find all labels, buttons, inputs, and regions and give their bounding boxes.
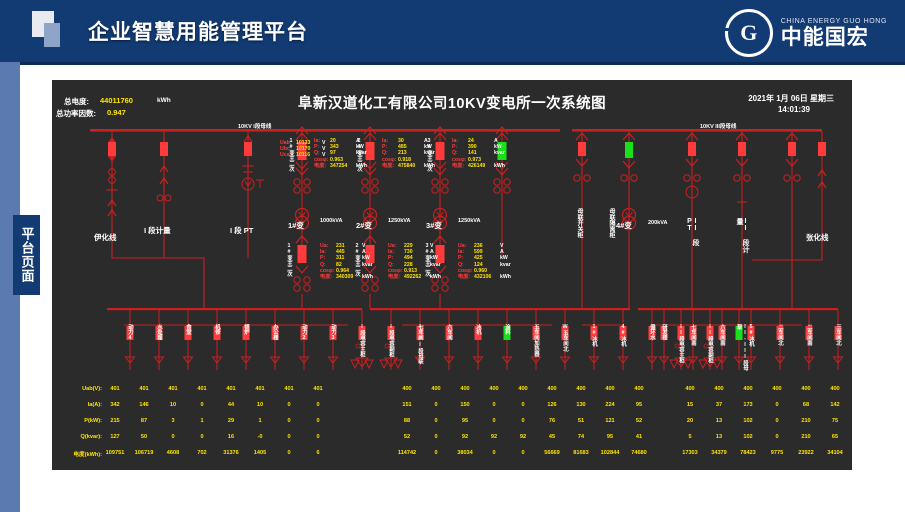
brand-name-cn: 中能国宏 <box>781 27 887 49</box>
table-cell: 29 <box>218 418 244 424</box>
table-cell: 15 <box>677 402 703 408</box>
measurement-table: Uab(V):Ia(A):P(kW):Q(kvar):电度(kWh):40134… <box>52 380 852 470</box>
table-cell: 16 <box>218 434 244 440</box>
table-cell: 52 <box>626 418 652 424</box>
brand-block: G CHINA ENERGY GUO HONG 中能国宏 <box>725 9 887 57</box>
table-cell: 0 <box>423 418 449 424</box>
label-bus-tie-breaker-cubicle: 母联开关柜 <box>576 208 582 260</box>
table-cell: 702 <box>189 450 215 456</box>
xfmr-2-kwh-unit: kWh <box>430 274 441 280</box>
table-cell: 34104 <box>822 450 848 456</box>
transformer-2-side-label: 2#变主二次 <box>354 243 360 285</box>
table-cell: 400 <box>394 386 420 392</box>
table-cell: 0 <box>481 402 507 408</box>
incomer-2-kwh-value: 475840 <box>398 163 424 169</box>
feeder-label-sec-i-5[interactable]: 办公楼 <box>272 324 278 376</box>
table-cell: 400 <box>423 386 449 392</box>
feeder-label-sec-i-9[interactable]: I段电容副柜 <box>388 324 394 376</box>
feeder-label-sec-ii-8[interactable]: 循环水 <box>649 324 655 376</box>
table-cell: 52 <box>394 434 420 440</box>
table-cell: 0 <box>276 402 302 408</box>
feeder-label-sec-i-0[interactable]: 动力4 <box>127 324 133 376</box>
table-cell: 400 <box>626 386 652 392</box>
table-cell: 75 <box>822 418 848 424</box>
xfmr-2-p-unit: kW <box>430 255 438 261</box>
incomer-2-name: 2#变主二次 <box>356 138 362 174</box>
table-cell: 106719 <box>131 450 157 456</box>
table-cell: 0 <box>160 434 186 440</box>
label-section-i-pt: I 段 PT <box>230 225 253 236</box>
table-cell: 127 <box>102 434 128 440</box>
table-cell: 5 <box>677 434 703 440</box>
incomer-3-readings: Ia:24A P:390kW Q:141kvar cosφ:0.973 电度:4… <box>452 138 505 169</box>
xfmr-3-kwh-unit: kWh <box>500 274 511 280</box>
table-cell: 342 <box>102 402 128 408</box>
table-cell: 9775 <box>764 450 790 456</box>
table-cell: 173 <box>735 402 761 408</box>
transformer-3-readings: Ua:236V Ia:599A P:425kW Q:124kvar cosφ:0… <box>458 243 511 280</box>
feeder-label-sec-i-4[interactable]: 锅炉 <box>243 324 249 376</box>
table-cell: 0 <box>481 418 507 424</box>
table-cell: 109751 <box>102 450 128 456</box>
feeder-label-sec-ii-4[interactable]: 五车间加热器 <box>533 324 539 376</box>
table-cell: 0 <box>851 434 852 440</box>
table-cell: 56669 <box>539 450 565 456</box>
table-cell: 65 <box>822 434 848 440</box>
table-cell: 150 <box>452 402 478 408</box>
table-cell: 400 <box>793 386 819 392</box>
table-cell: 0 <box>305 418 331 424</box>
xfmr-2-q-unit: kvar <box>430 262 441 268</box>
table-cell: 76 <box>539 418 565 424</box>
label-yihua-line: 伊化线 <box>94 232 117 243</box>
table-cell: 400 <box>568 386 594 392</box>
table-cell: 0 <box>276 450 302 456</box>
label-section-ii-pt: II 段 PT <box>686 218 698 252</box>
table-row-label-3: Q(kvar): <box>54 434 102 440</box>
xfmr-2-ia-unit: A <box>430 249 434 255</box>
label-zhanghua-line: 张化线 <box>806 232 829 243</box>
table-cell: 17303 <box>677 450 703 456</box>
transformer-3-side-label: 3#变主二次 <box>424 243 430 285</box>
table-cell: 0 <box>423 402 449 408</box>
feeder-label-sec-iii-0[interactable]: 研发楼 <box>661 324 667 376</box>
table-cell: 13 <box>706 418 732 424</box>
table-cell: 151 <box>394 402 420 408</box>
table-row-label-0: Uab(V): <box>54 386 102 392</box>
transformer-4-tag: 4#变 <box>616 220 632 231</box>
table-cell: 92 <box>481 434 507 440</box>
table-cell: 400 <box>764 386 790 392</box>
xfmr-1-ua-unit: V <box>362 243 365 249</box>
table-cell: 0 <box>851 418 852 424</box>
table-cell: 31376 <box>218 450 244 456</box>
incomer-3-name: 3#变主二次 <box>426 138 432 174</box>
table-cell: 45 <box>539 434 565 440</box>
table-cell: 41 <box>626 434 652 440</box>
table-cell: 0 <box>764 434 790 440</box>
label-section-i-metering: I 段计量 <box>144 225 171 236</box>
table-cell: 0 <box>305 434 331 440</box>
table-cell: 0 <box>189 402 215 408</box>
bus-label-left: 10KV I段母线 <box>238 122 271 130</box>
table-cell: 400 <box>735 386 761 392</box>
bus-label-right: 10KV III段母线 <box>700 122 736 130</box>
table-cell: 1405 <box>247 450 273 456</box>
transformer-3-tag: 3#变 <box>426 220 442 231</box>
transformer-2-rating: 1250kVA <box>388 218 411 224</box>
table-cell: 0 <box>510 418 536 424</box>
table-cell: 0 <box>189 434 215 440</box>
table-cell: 81683 <box>568 450 594 456</box>
table-cell: 0 <box>510 450 536 456</box>
table-cell: 38034 <box>452 450 478 456</box>
feeder-label-sec-iii-1[interactable]: 七车间南 <box>690 324 696 376</box>
xfmr-3-p-unit: kW <box>500 255 508 261</box>
table-cell: 4608 <box>160 450 186 456</box>
table-cell: 400 <box>510 386 536 392</box>
xfmr-1-kwh-unit: kWh <box>362 274 373 280</box>
table-cell: 10 <box>160 402 186 408</box>
table-cell: 3 <box>160 418 186 424</box>
feeder-label-sec-ii-7[interactable]: 4#冰机 <box>620 324 626 376</box>
feeder-label-sec-ii-10[interactable]: II段电容副柜 <box>707 324 713 376</box>
transformer-3-rating: 1250kVA <box>458 218 481 224</box>
xfmr-3-q-unit: kvar <box>500 262 511 268</box>
table-cell: 400 <box>452 386 478 392</box>
single-line-diagram-panel: 总电度: 44011760 kWh 总功率因数: 0.947 阜新汉道化工有限公… <box>52 80 852 470</box>
incomer-1-kwh-value: 347254 <box>330 163 356 169</box>
table-cell: 78423 <box>735 450 761 456</box>
table-cell: 400 <box>597 386 623 392</box>
incomer-3-kwh-value: 426149 <box>468 163 494 169</box>
table-cell: 74 <box>568 434 594 440</box>
table-cell: 401 <box>247 386 273 392</box>
table-cell: 92 <box>510 434 536 440</box>
table-cell: 400 <box>481 386 507 392</box>
transformer-1-tag: 1#变 <box>288 220 304 231</box>
label-bus-tie-isolator-cubicle: 母联隔离柜 <box>608 208 614 260</box>
table-cell: 44 <box>218 402 244 408</box>
xfmr-3-kwh-value: 432106 <box>474 274 500 280</box>
table-cell: 401 <box>276 386 302 392</box>
feeder-label-sec-ii-2[interactable]: 冰机 <box>475 324 481 376</box>
feeder-label-sec-iii-4[interactable]: 二车间北 <box>777 324 783 376</box>
table-cell: 210 <box>793 434 819 440</box>
table-cell: 0 <box>481 450 507 456</box>
table-cell: 215 <box>102 418 128 424</box>
transformer-2-tag: 2#变 <box>356 220 372 231</box>
app-header: 企业智慧用能管理平台 G CHINA ENERGY GUO HONG 中能国宏 <box>0 0 905 65</box>
table-cell: 51 <box>568 418 594 424</box>
table-cell: 0 <box>423 450 449 456</box>
table-cell: 88 <box>394 418 420 424</box>
table-cell: 401 <box>305 386 331 392</box>
table-cell: 6 <box>305 450 331 456</box>
xfmr-1-kwh-key: 电度: <box>320 274 336 280</box>
sidebar-tab-platform-pages[interactable]: 平台页面 <box>13 215 40 295</box>
table-cell: 23922 <box>793 450 819 456</box>
app-logo-icon <box>32 11 72 51</box>
xfmr-1-p-unit: kW <box>362 255 370 261</box>
xfmr-3-ua-unit: V <box>500 243 503 249</box>
table-cell: 1 <box>189 418 215 424</box>
feeder-label-sec-i-3[interactable]: 机修 <box>214 324 220 376</box>
incomer-1-name: 1#变主二次 <box>288 138 294 174</box>
table-cell: 400 <box>706 386 732 392</box>
table-cell: 87 <box>131 418 157 424</box>
table-cell: 0 <box>764 418 790 424</box>
table-cell: 114742 <box>394 450 420 456</box>
table-cell: 400 <box>677 386 703 392</box>
table-cell: 0 <box>764 402 790 408</box>
feeder-label-sec-iii-2[interactable]: 六车间南 <box>719 324 725 376</box>
table-cell: 401 <box>160 386 186 392</box>
feeder-label-sec-iii-3[interactable]: 5#冰机 <box>748 324 754 376</box>
table-cell: 13 <box>706 434 732 440</box>
transformer-4-rating: 200kVA <box>648 220 667 226</box>
table-cell: 210 <box>793 418 819 424</box>
incomer-3-ia-unit: A <box>494 138 498 144</box>
table-cell: 130 <box>568 402 594 408</box>
incomer-3-q-unit: kvar <box>494 150 505 156</box>
table-cell: 68 <box>793 402 819 408</box>
transformer-1-rating: 1000kVA <box>320 218 343 224</box>
table-cell: 400 <box>822 386 848 392</box>
table-cell: 142 <box>822 402 848 408</box>
table-cell: -0 <box>247 434 273 440</box>
table-cell: 0 <box>276 434 302 440</box>
table-cell: 401 <box>131 386 157 392</box>
incomer-3-kwh-key: 电度: <box>452 163 468 169</box>
feeder-label-sec-ii-11[interactable]: II-III段母联 <box>736 324 748 376</box>
table-cell: 95 <box>452 418 478 424</box>
xfmr-2-ua-unit: V <box>430 243 433 249</box>
table-cell: 95 <box>626 402 652 408</box>
xfmr-1-q-unit: kvar <box>362 262 373 268</box>
table-cell: 126 <box>539 402 565 408</box>
transformer-1-readings: Ua:231V Ia:445A P:311kW Q:82kvar cosφ:0.… <box>320 243 373 280</box>
table-cell: 92 <box>452 434 478 440</box>
table-cell: 20 <box>677 418 703 424</box>
table-cell: 10 <box>247 402 273 408</box>
incomer-2-kwh-key: 电度: <box>382 163 398 169</box>
incomer-3-kwh-unit: kWh <box>494 163 505 169</box>
incomer-3-p-unit: kW <box>494 144 502 150</box>
incomer-1-kwh-key: 电度: <box>314 163 330 169</box>
feeder-label-sec-iii-6[interactable]: 三车间北 <box>835 324 841 376</box>
feeder-label-sec-iii-5[interactable]: 二车间南 <box>806 324 812 376</box>
label-section-ii-metering: II 段计量 <box>736 218 748 256</box>
table-cell: 102 <box>735 418 761 424</box>
table-row-label-1: Ia(A): <box>54 402 102 408</box>
xfmr-3-kwh-key: 电度: <box>458 274 474 280</box>
transformer-1-side-label: 1#变主二次 <box>286 243 292 285</box>
table-cell: 400 <box>539 386 565 392</box>
feeder-label-sec-ii-9[interactable]: II段电容主柜 <box>678 324 684 376</box>
xfmr-1-ia-unit: A <box>362 249 366 255</box>
table-cell: 1 <box>247 418 273 424</box>
table-row-label-2: P(kW): <box>54 418 102 424</box>
feeder-label-sec-i-7[interactable]: 动力3 <box>330 324 336 376</box>
feeder-label-sec-i-8[interactable]: I段电容主柜 <box>359 324 365 376</box>
feeder-label-sec-ii-1[interactable]: 六车间 <box>446 324 452 376</box>
table-cell: 0 <box>423 434 449 440</box>
table-cell: 0 <box>851 450 852 456</box>
table-cell: 95 <box>597 434 623 440</box>
table-cell: 102844 <box>597 450 623 456</box>
feeder-label-sec-ii-3[interactable]: 涂料 <box>504 324 510 376</box>
table-cell: 121 <box>597 418 623 424</box>
feeder-label-sec-ii-6[interactable]: 1#冰机 <box>591 324 597 376</box>
table-cell: 0 <box>851 402 852 408</box>
table-cell: 74680 <box>626 450 652 456</box>
table-cell: 37 <box>706 402 732 408</box>
table-cell: 102 <box>735 434 761 440</box>
feeder-label-sec-i-6[interactable]: 动力2 <box>301 324 307 376</box>
table-cell: 400 <box>851 386 852 392</box>
table-cell: 146 <box>131 402 157 408</box>
table-cell: 401 <box>102 386 128 392</box>
feeder-label-sec-i-2[interactable]: 食堂 <box>185 324 191 376</box>
table-cell: 224 <box>597 402 623 408</box>
table-cell: 0 <box>510 402 536 408</box>
table-row-label-4: 电度(kWh): <box>54 450 102 458</box>
table-cell: 0 <box>276 418 302 424</box>
table-cell: 401 <box>218 386 244 392</box>
feeder-label-sec-ii-0[interactable]: 七车间 <box>417 324 423 376</box>
table-cell: 50 <box>131 434 157 440</box>
feeder-label-sec-ii-5[interactable]: W五车间北 <box>562 324 568 376</box>
xfmr-2-kwh-key: 电度: <box>388 274 404 280</box>
brand-logo-icon: G <box>725 9 773 57</box>
transformer-2-readings: Ua:229V Ia:730A P:494kW Q:228kvar cosφ:0… <box>388 243 441 280</box>
xfmr-3-ia-unit: A <box>500 249 504 255</box>
feeder-label-sec-i-1[interactable]: 水处理 <box>156 324 162 376</box>
app-title: 企业智慧用能管理平台 <box>88 16 308 46</box>
table-cell: 0 <box>305 402 331 408</box>
table-cell: 401 <box>189 386 215 392</box>
table-cell: 34379 <box>706 450 732 456</box>
